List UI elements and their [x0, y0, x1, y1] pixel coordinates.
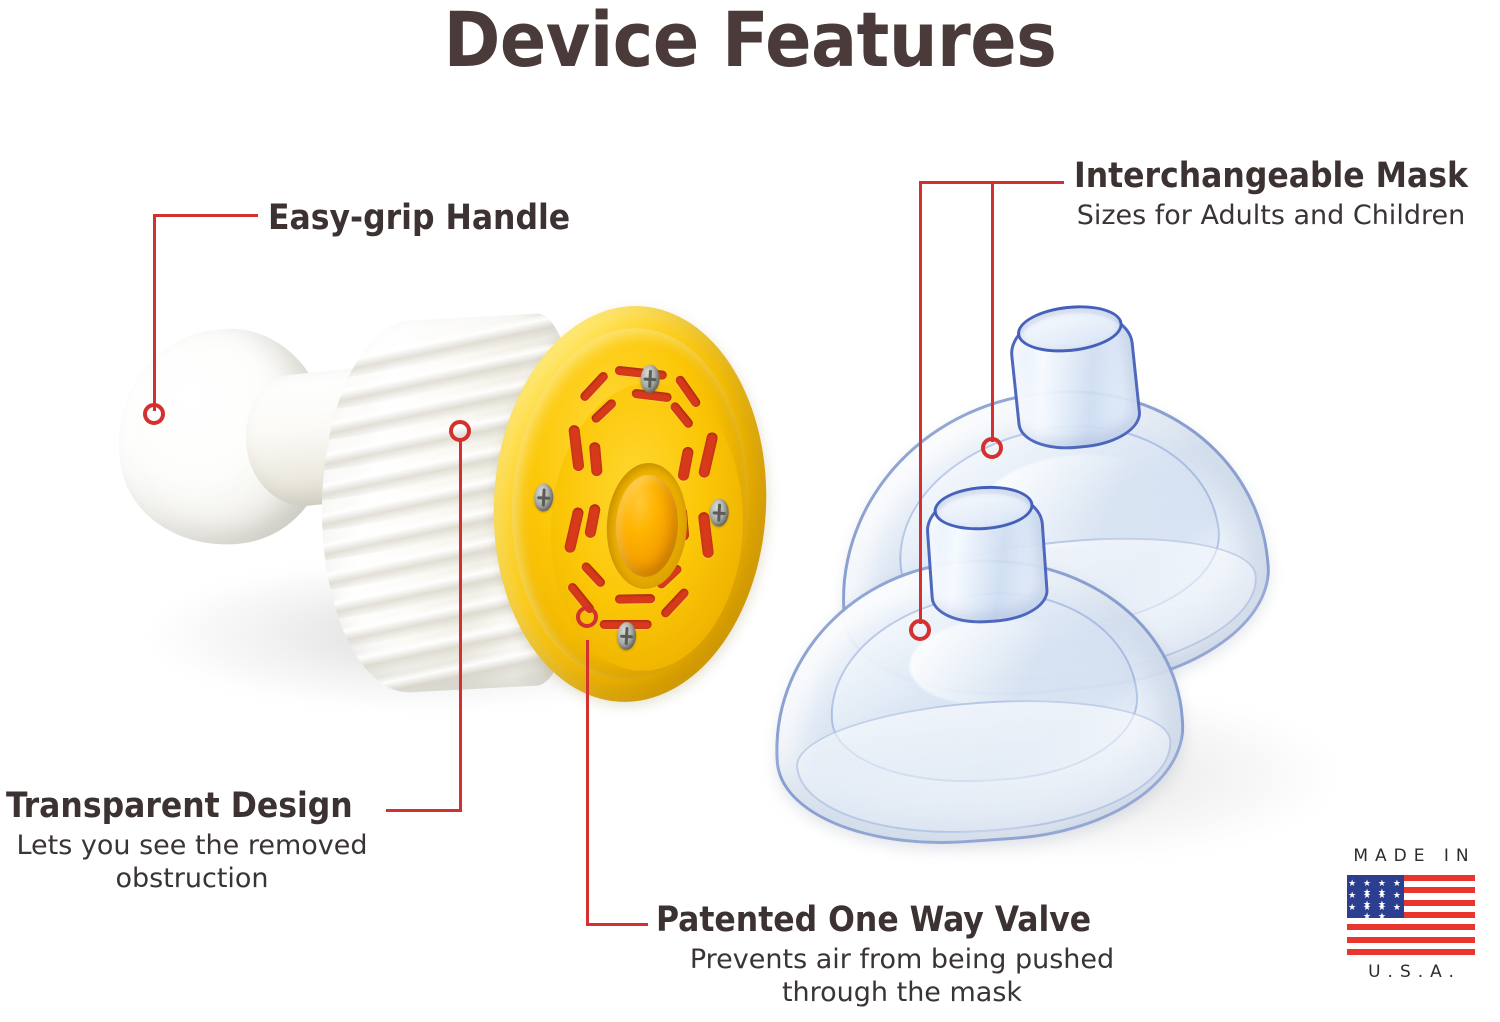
made-in-usa-badge: MADE IN ★ ★ ★ ★ ★ ★ ★ ★ ★ ★ ★ ★ ★ ★ ★ ★ …	[1336, 846, 1486, 982]
one-way-valve	[613, 473, 680, 578]
leader-transparent-horizontal	[386, 809, 462, 812]
callout-subtext: Prevents air from being pushed through t…	[656, 944, 1148, 1010]
leader-valve-vertical	[586, 640, 589, 925]
callout-interchangeable-mask: Interchangeable Mask Sizes for Adults an…	[1074, 158, 1468, 233]
callout-subtext: Lets you see the removed obstruction	[6, 830, 378, 896]
callout-heading: Patented One Way Valve	[656, 902, 1148, 940]
callout-transparent-design: Transparent Design Lets you see the remo…	[6, 788, 378, 896]
cap-rim	[503, 322, 757, 686]
flag-star-row: ★ ★ ★ ★ ★ ★	[1347, 904, 1404, 922]
flag-canton: ★ ★ ★ ★ ★ ★ ★ ★ ★ ★ ★ ★ ★ ★ ★ ★ ★ ★	[1347, 875, 1404, 918]
child-mask-port	[924, 487, 1051, 627]
child-mask	[763, 546, 1192, 856]
badge-top-text: MADE IN	[1336, 846, 1486, 866]
cap-face	[543, 378, 750, 676]
usa-flag-icon: ★ ★ ★ ★ ★ ★ ★ ★ ★ ★ ★ ★ ★ ★ ★ ★ ★ ★	[1347, 875, 1475, 955]
badge-bottom-text: U.S.A.	[1336, 962, 1486, 982]
leader-valve-horizontal	[586, 923, 648, 926]
callout-subtext-line2: through the mask	[656, 977, 1148, 1010]
marker-adult-mask	[981, 437, 1003, 459]
marker-handle	[143, 403, 165, 425]
infographic-canvas: Device Features	[0, 0, 1500, 1022]
leader-handle-vertical	[153, 214, 156, 411]
callout-subtext: Sizes for Adults and Children	[1074, 200, 1468, 233]
callout-subtext-line1: Lets you see the removed	[6, 830, 378, 863]
adult-mask-port	[1006, 304, 1144, 454]
leader-transparent-vertical	[459, 440, 462, 811]
marker-child-mask	[909, 619, 931, 641]
leader-mask-vertical-adult	[991, 181, 994, 442]
leader-handle-horizontal	[153, 214, 258, 217]
leader-mask-vertical-child	[919, 181, 922, 624]
screw-left	[534, 483, 554, 512]
callout-easy-grip-handle: Easy-grip Handle	[268, 200, 570, 238]
callout-subtext-line1: Prevents air from being pushed	[656, 944, 1148, 977]
marker-one-way-valve	[576, 606, 598, 628]
marker-transparent-design	[449, 420, 471, 442]
callout-heading: Easy-grip Handle	[268, 200, 570, 238]
callout-heading: Transparent Design	[6, 788, 378, 826]
callout-subtext-line2: obstruction	[6, 863, 378, 896]
callout-heading: Interchangeable Mask	[1074, 158, 1468, 196]
callout-patented-one-way-valve: Patented One Way Valve Prevents air from…	[656, 902, 1148, 1010]
